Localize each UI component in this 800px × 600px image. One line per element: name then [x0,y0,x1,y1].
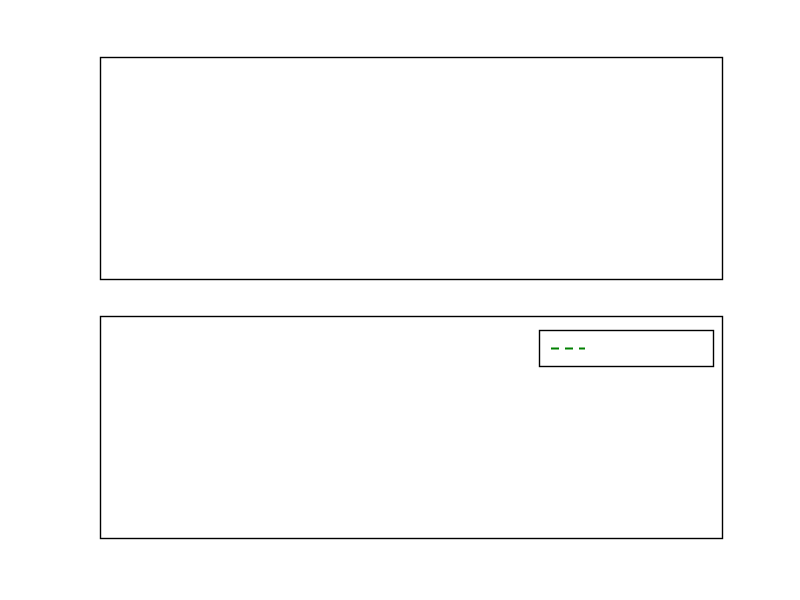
top-axes [101,58,723,280]
legend[interactable] [540,331,714,367]
figure-canvas [0,0,800,600]
top-plot-frame [101,58,723,280]
bottom-axes [101,317,723,539]
matplotlib-figure [0,0,800,600]
